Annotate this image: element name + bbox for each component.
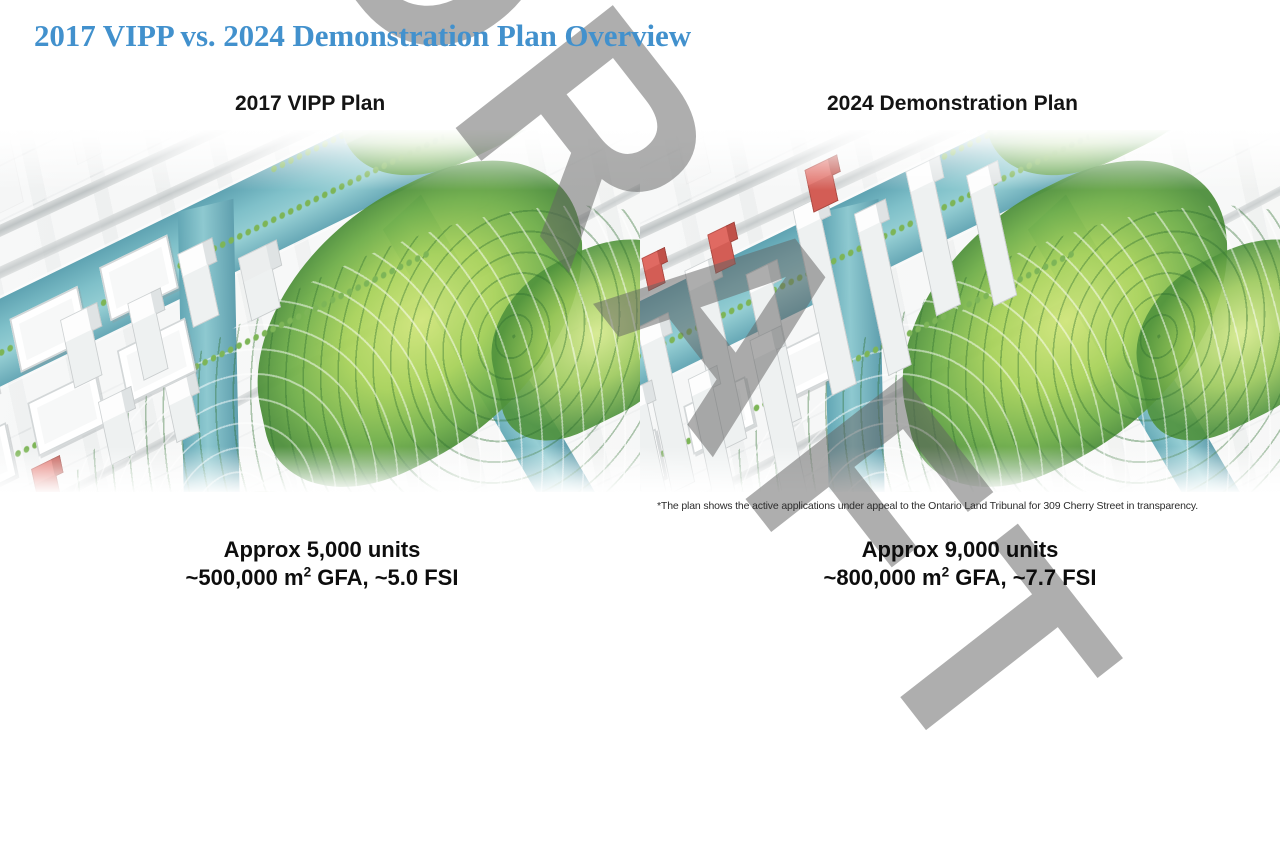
caption-left-units: Approx 5,000 units xyxy=(224,537,421,562)
caption-left: Approx 5,000 units ~500,000 m2 GFA, ~5.0… xyxy=(42,536,602,592)
slide-root: 2017 VIPP vs. 2024 Demonstration Plan Ov… xyxy=(0,0,1280,628)
caption-right-gfa-fsi: ~800,000 m2 GFA, ~7.7 FSI xyxy=(680,564,1240,592)
tower-massing xyxy=(640,384,646,414)
footnote-text: *The plan shows the active applications … xyxy=(657,500,1198,512)
caption-left-sup: 2 xyxy=(304,565,312,580)
caption-left-gfa-post: GFA, ~5.0 FSI xyxy=(311,565,458,590)
rendering-2017-vipp-plan xyxy=(0,130,650,492)
rendering-left-canvas xyxy=(0,130,650,492)
column-heading-left: 2017 VIPP Plan xyxy=(235,92,385,116)
caption-left-gfa-pre: ~500,000 m xyxy=(186,565,304,590)
caption-right-gfa-pre: ~800,000 m xyxy=(824,565,942,590)
caption-right-units: Approx 9,000 units xyxy=(862,537,1059,562)
caption-right-gfa-post: GFA, ~7.7 FSI xyxy=(949,565,1096,590)
rendering-2024-demonstration-plan xyxy=(640,130,1280,492)
aerial-plan-plane-left xyxy=(0,130,650,492)
caption-right-sup: 2 xyxy=(942,565,950,580)
caption-left-gfa-fsi: ~500,000 m2 GFA, ~5.0 FSI xyxy=(42,564,602,592)
aerial-plan-plane-right xyxy=(640,130,1280,492)
column-heading-right: 2024 Demonstration Plan xyxy=(827,92,1078,116)
rendering-right-canvas xyxy=(640,130,1280,492)
caption-right: Approx 9,000 units ~800,000 m2 GFA, ~7.7… xyxy=(680,536,1240,592)
page-title: 2017 VIPP vs. 2024 Demonstration Plan Ov… xyxy=(34,18,691,54)
